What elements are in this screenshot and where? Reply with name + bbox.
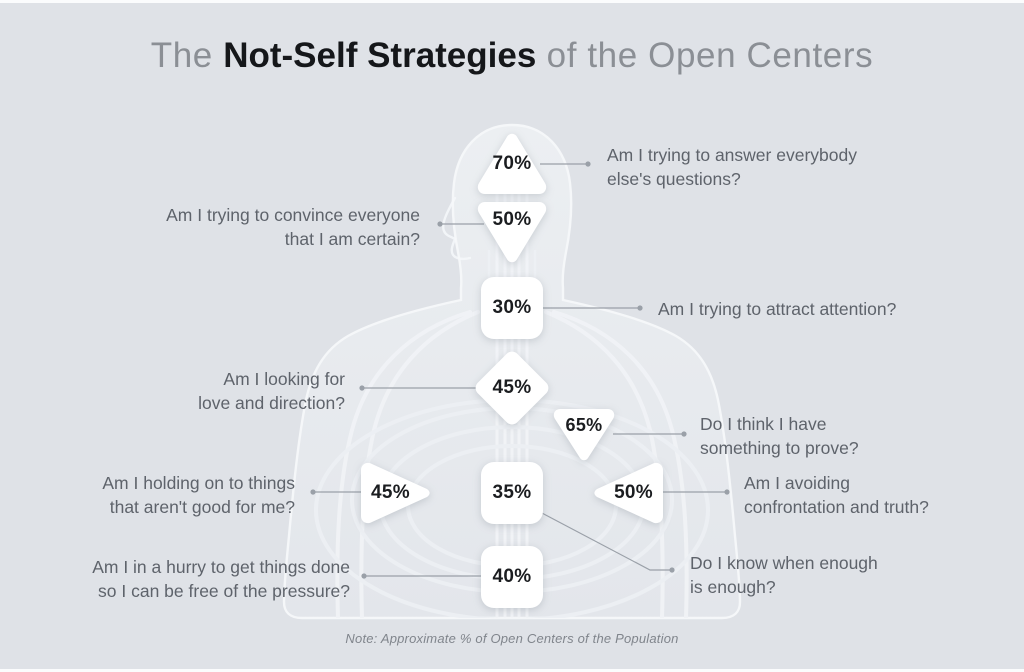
center-marker-root[interactable]: 40% <box>480 545 544 609</box>
question-label-throat: Am I trying to attract attention? <box>658 297 988 321</box>
question-label-ajna: Am I trying to convince everyone that I … <box>90 203 420 251</box>
center-marker-sacral[interactable]: 35% <box>480 461 544 525</box>
center-marker-ajna[interactable]: 50% <box>474 199 550 265</box>
center-marker-throat[interactable]: 30% <box>480 276 544 340</box>
question-label-ego-heart: Do I think I have something to prove? <box>700 412 990 460</box>
center-value-ego-heart: 65% <box>566 415 603 436</box>
center-value-solar-plexus: 50% <box>614 482 653 504</box>
page-title: The Not-Self Strategies of the Open Cent… <box>0 36 1024 76</box>
center-marker-solar-plexus[interactable]: 50% <box>592 459 666 527</box>
center-marker-spleen[interactable]: 45% <box>358 459 432 527</box>
footer-note: Note: Approximate % of Open Centers of t… <box>0 631 1024 646</box>
question-label-solar-plexus: Am I avoiding confrontation and truth? <box>744 471 1009 519</box>
center-value-root: 40% <box>493 566 532 588</box>
center-value-head: 70% <box>493 153 532 175</box>
title-emphasis: Not-Self Strategies <box>223 36 536 75</box>
center-marker-ego-heart[interactable]: 65% <box>551 406 617 462</box>
question-label-g-center: Am I looking for love and direction? <box>90 367 345 415</box>
question-label-sacral: Do I know when enough is enough? <box>690 551 980 599</box>
center-value-spleen: 45% <box>371 482 410 504</box>
infographic-canvas: The Not-Self Strategies of the Open Cent… <box>0 0 1024 672</box>
title-suffix: of the Open Centers <box>536 36 873 75</box>
center-value-g-center: 45% <box>493 377 532 399</box>
question-label-head: Am I trying to answer everybody else's q… <box>607 143 947 191</box>
center-value-sacral: 35% <box>493 482 532 504</box>
center-marker-head[interactable]: 70% <box>474 131 550 197</box>
center-value-throat: 30% <box>493 297 532 319</box>
question-label-spleen: Am I holding on to things that aren't go… <box>30 471 295 519</box>
center-marker-g-center[interactable]: 45% <box>474 350 550 426</box>
center-value-ajna: 50% <box>493 209 532 231</box>
question-label-root: Am I in a hurry to get things done so I … <box>20 555 350 603</box>
title-prefix: The <box>151 36 223 75</box>
